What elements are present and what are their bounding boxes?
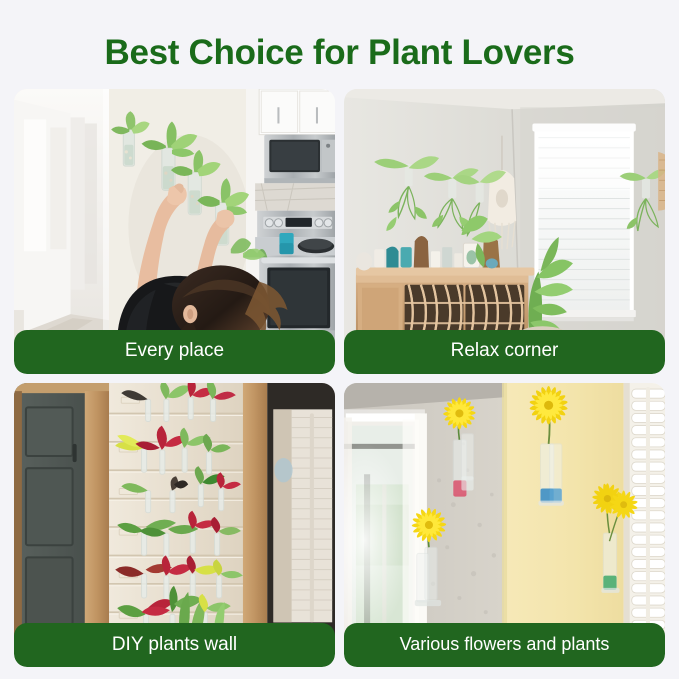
caption-label-every-place: Every place <box>125 341 224 362</box>
poster-root: Best Choice for Plant Lovers <box>0 0 679 679</box>
caption-bar-relax-corner: Relax corner <box>344 330 665 374</box>
caption-bar-various-flowers-and-plants: Various flowers and plants <box>344 623 665 667</box>
gallery-card-diy-plants-wall[interactable]: DIY plants wall <box>14 383 335 668</box>
page-title: Best Choice for Plant Lovers <box>104 35 574 70</box>
caption-label-relax-corner: Relax corner <box>451 341 559 362</box>
photo-every-place-illustration <box>14 89 335 343</box>
photo-every-place <box>14 89 335 343</box>
photo-relax-corner <box>344 89 665 343</box>
gallery-card-relax-corner[interactable]: Relax corner <box>344 89 665 374</box>
caption-label-various-flowers-and-plants: Various flowers and plants <box>400 635 610 655</box>
caption-label-diy-plants-wall: DIY plants wall <box>112 635 237 656</box>
photo-diy-plants-wall-illustration <box>14 383 335 637</box>
caption-bar-every-place: Every place <box>14 330 335 374</box>
gallery-card-various-flowers-and-plants[interactable]: Various flowers and plants <box>344 383 665 668</box>
photo-various-flowers-and-plants <box>344 383 665 637</box>
image-gallery-grid: Every place <box>14 89 665 667</box>
photo-diy-plants-wall <box>14 383 335 637</box>
photo-relax-corner-illustration <box>344 89 665 343</box>
photo-various-flowers-illustration <box>344 383 665 637</box>
caption-bar-diy-plants-wall: DIY plants wall <box>14 623 335 667</box>
gallery-card-every-place[interactable]: Every place <box>14 89 335 374</box>
